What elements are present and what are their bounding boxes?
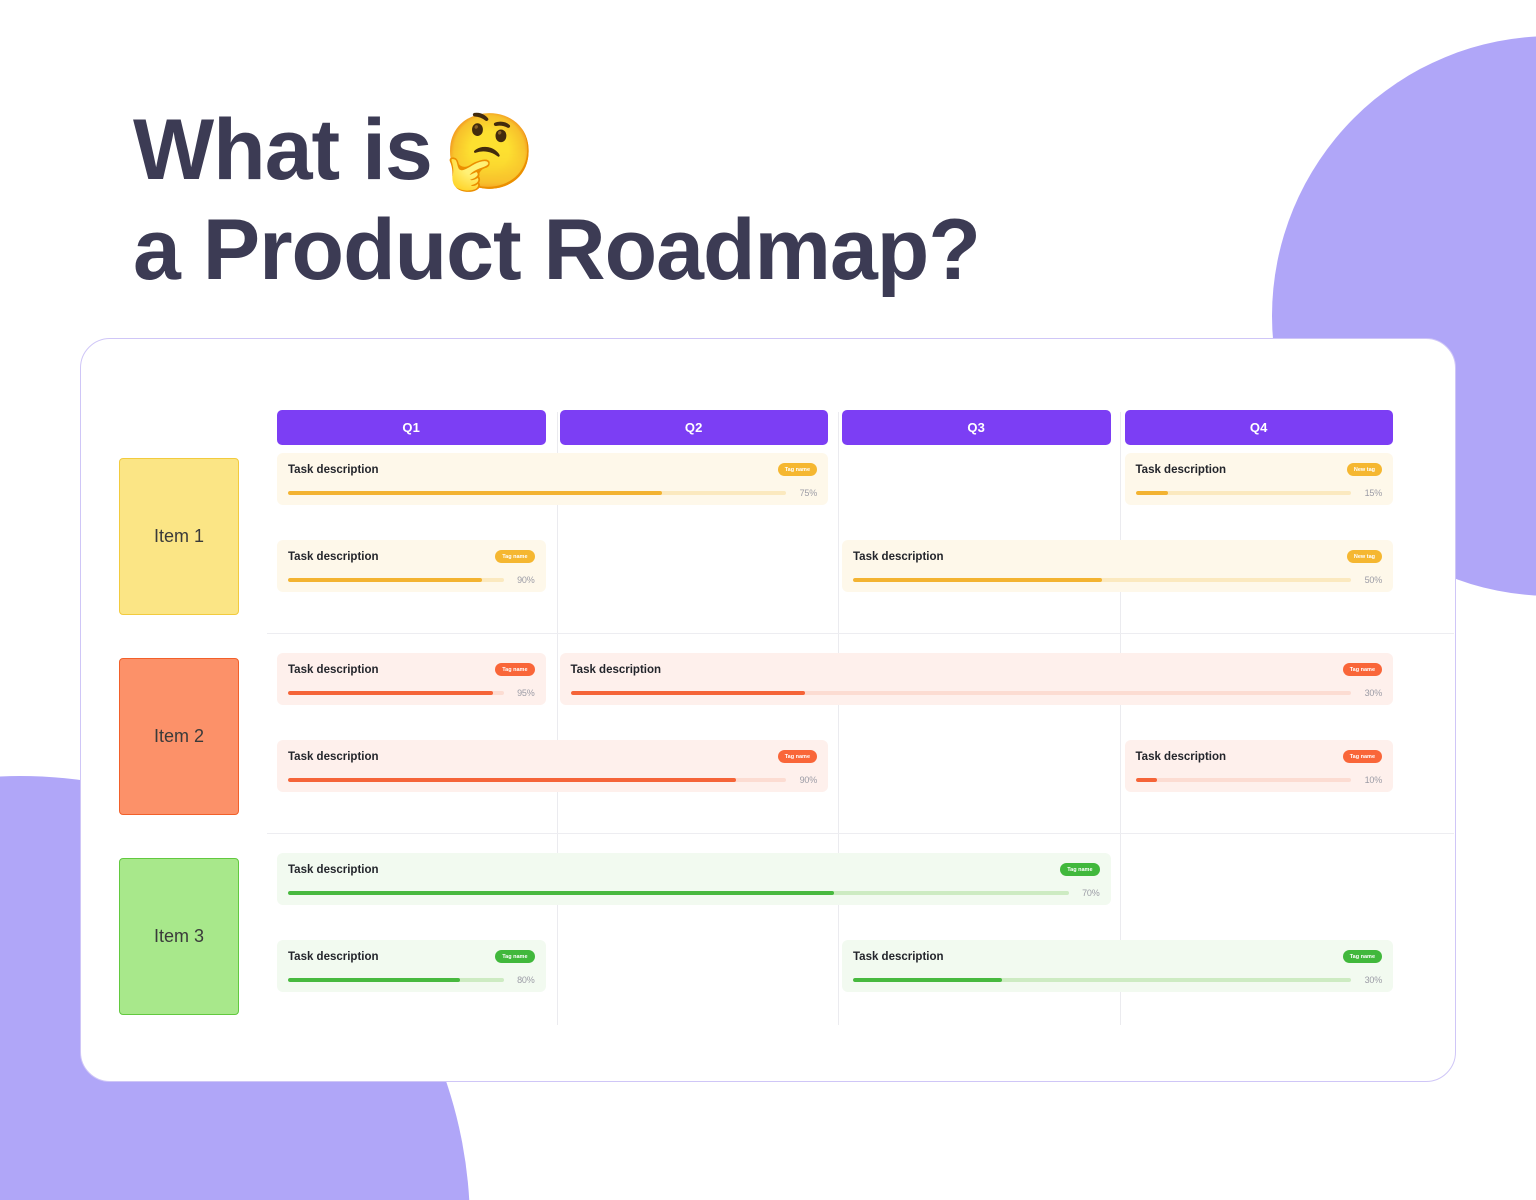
progress-track[interactable] (853, 978, 1351, 982)
progress-fill (288, 491, 662, 495)
progress-percent-label: 95% (511, 688, 535, 698)
progress-fill (288, 978, 460, 982)
task-description-label: Task description (1136, 464, 1227, 476)
task-card[interactable]: Task descriptionTag name90% (277, 740, 828, 792)
row-label-item-1-text: Item 1 (154, 526, 204, 547)
task-tag-label: Tag name (502, 667, 527, 673)
task-description-label: Task description (288, 464, 379, 476)
task-card[interactable]: Task descriptionNew tag15% (1125, 453, 1394, 505)
task-description-label: Task description (571, 664, 662, 676)
task-card-header: Task descriptionTag name (288, 949, 535, 964)
progress-track[interactable] (571, 691, 1352, 695)
row-divider-item2-item3 (267, 833, 1454, 834)
progress-percent-label: 30% (1358, 975, 1382, 985)
task-tag-label: Tag name (785, 754, 810, 760)
task-tag-badge[interactable]: Tag name (778, 750, 817, 763)
progress-fill (288, 778, 736, 782)
task-card[interactable]: Task descriptionNew tag50% (842, 540, 1393, 592)
progress-fill (1136, 778, 1158, 782)
task-progress-row: 90% (288, 775, 817, 785)
task-tag-badge[interactable]: Tag name (495, 550, 534, 563)
quarter-header-q4[interactable]: Q4 (1125, 410, 1394, 445)
task-tag-badge[interactable]: Tag name (1343, 750, 1382, 763)
task-card[interactable]: Task descriptionTag name90% (277, 540, 546, 592)
progress-percent-label: 70% (1076, 888, 1100, 898)
progress-fill (853, 978, 1002, 982)
task-description-label: Task description (288, 751, 379, 763)
task-card[interactable]: Task descriptionTag name70% (277, 853, 1111, 905)
row-divider-item1-item2 (267, 633, 1454, 634)
thinking-face-emoji-icon: 🤔 (444, 115, 535, 189)
progress-percent-label: 90% (793, 775, 817, 785)
task-card-header: Task descriptionTag name (1136, 749, 1383, 764)
column-divider-q3-q4 (1120, 412, 1121, 1025)
row-label-item-1[interactable]: Item 1 (119, 458, 239, 615)
progress-track[interactable] (288, 778, 786, 782)
task-tag-badge[interactable]: Tag name (1060, 863, 1099, 876)
task-tag-label: Tag name (1067, 867, 1092, 873)
task-card-header: Task descriptionTag name (853, 949, 1382, 964)
task-tag-label: Tag name (785, 467, 810, 473)
quarter-header-label: Q4 (1250, 420, 1268, 435)
progress-percent-label: 90% (511, 575, 535, 585)
task-tag-label: Tag name (1350, 754, 1375, 760)
page-title: What is 🤔 a Product Roadmap? (133, 100, 980, 300)
task-card[interactable]: Task descriptionTag name30% (842, 940, 1393, 992)
task-card[interactable]: Task descriptionTag name95% (277, 653, 546, 705)
quarter-header-q2[interactable]: Q2 (560, 410, 829, 445)
task-card-header: Task descriptionNew tag (1136, 462, 1383, 477)
page-title-text-1: What is (133, 100, 432, 200)
progress-percent-label: 50% (1358, 575, 1382, 585)
row-label-item-3-text: Item 3 (154, 926, 204, 947)
task-tag-badge[interactable]: Tag name (1343, 663, 1382, 676)
progress-track[interactable] (288, 691, 504, 695)
task-progress-row: 15% (1136, 488, 1383, 498)
task-tag-label: Tag name (1350, 667, 1375, 673)
task-card-header: Task descriptionTag name (288, 749, 817, 764)
task-tag-label: New tag (1354, 467, 1375, 473)
progress-fill (288, 691, 493, 695)
progress-fill (853, 578, 1102, 582)
column-divider-q2-q3 (838, 412, 839, 1025)
task-card-header: Task descriptionTag name (288, 462, 817, 477)
quarter-header-row: Q1Q2Q3Q4 (277, 410, 1393, 445)
task-progress-row: 80% (288, 975, 535, 985)
progress-percent-label: 80% (511, 975, 535, 985)
task-tag-badge[interactable]: New tag (1347, 463, 1382, 476)
task-card[interactable]: Task descriptionTag name75% (277, 453, 828, 505)
task-card-header: Task descriptionTag name (571, 662, 1383, 677)
task-progress-row: 50% (853, 575, 1382, 585)
progress-fill (288, 578, 482, 582)
quarter-header-label: Q1 (402, 420, 420, 435)
task-description-label: Task description (853, 951, 944, 963)
progress-fill (571, 691, 805, 695)
task-tag-badge[interactable]: Tag name (1343, 950, 1382, 963)
progress-track[interactable] (288, 491, 786, 495)
progress-percent-label: 15% (1358, 488, 1382, 498)
quarter-header-label: Q3 (967, 420, 985, 435)
task-description-label: Task description (288, 864, 379, 876)
progress-track[interactable] (288, 891, 1069, 895)
task-progress-row: 95% (288, 688, 535, 698)
progress-percent-label: 75% (793, 488, 817, 498)
quarter-header-q3[interactable]: Q3 (842, 410, 1111, 445)
task-description-label: Task description (288, 664, 379, 676)
task-description-label: Task description (288, 951, 379, 963)
task-progress-row: 30% (853, 975, 1382, 985)
task-description-label: Task description (1136, 751, 1227, 763)
progress-track[interactable] (288, 978, 504, 982)
row-label-item-2-text: Item 2 (154, 726, 204, 747)
task-card[interactable]: Task descriptionTag name10% (1125, 740, 1394, 792)
quarter-header-q1[interactable]: Q1 (277, 410, 546, 445)
task-tag-badge[interactable]: Tag name (778, 463, 817, 476)
task-tag-badge[interactable]: Tag name (495, 663, 534, 676)
progress-fill (1136, 491, 1168, 495)
task-card-header: Task descriptionTag name (288, 549, 535, 564)
progress-track[interactable] (853, 578, 1351, 582)
progress-track[interactable] (288, 578, 504, 582)
task-tag-label: New tag (1354, 554, 1375, 560)
quarter-header-label: Q2 (685, 420, 703, 435)
task-tag-badge[interactable]: Tag name (495, 950, 534, 963)
page-title-line-2: a Product Roadmap? (133, 200, 980, 300)
task-card[interactable]: Task descriptionTag name30% (560, 653, 1394, 705)
task-tag-label: Tag name (502, 554, 527, 560)
progress-track[interactable] (1136, 491, 1352, 495)
roadmap-panel: Q1Q2Q3Q4 Item 1 Item 2 Item 3 Task descr… (80, 338, 1456, 1082)
progress-percent-label: 30% (1358, 688, 1382, 698)
progress-track[interactable] (1136, 778, 1352, 782)
task-tag-label: Tag name (1350, 954, 1375, 960)
progress-percent-label: 10% (1358, 775, 1382, 785)
task-description-label: Task description (288, 551, 379, 563)
task-card-header: Task descriptionTag name (288, 862, 1100, 877)
task-card[interactable]: Task descriptionTag name80% (277, 940, 546, 992)
page-title-line-1: What is 🤔 (133, 100, 980, 200)
progress-fill (288, 891, 834, 895)
task-progress-row: 90% (288, 575, 535, 585)
task-progress-row: 10% (1136, 775, 1383, 785)
task-tag-badge[interactable]: New tag (1347, 550, 1382, 563)
task-tag-label: Tag name (502, 954, 527, 960)
task-card-header: Task descriptionTag name (288, 662, 535, 677)
task-progress-row: 70% (288, 888, 1100, 898)
task-progress-row: 75% (288, 488, 817, 498)
task-progress-row: 30% (571, 688, 1383, 698)
row-label-item-2[interactable]: Item 2 (119, 658, 239, 815)
row-label-item-3[interactable]: Item 3 (119, 858, 239, 1015)
task-description-label: Task description (853, 551, 944, 563)
task-card-header: Task descriptionNew tag (853, 549, 1382, 564)
